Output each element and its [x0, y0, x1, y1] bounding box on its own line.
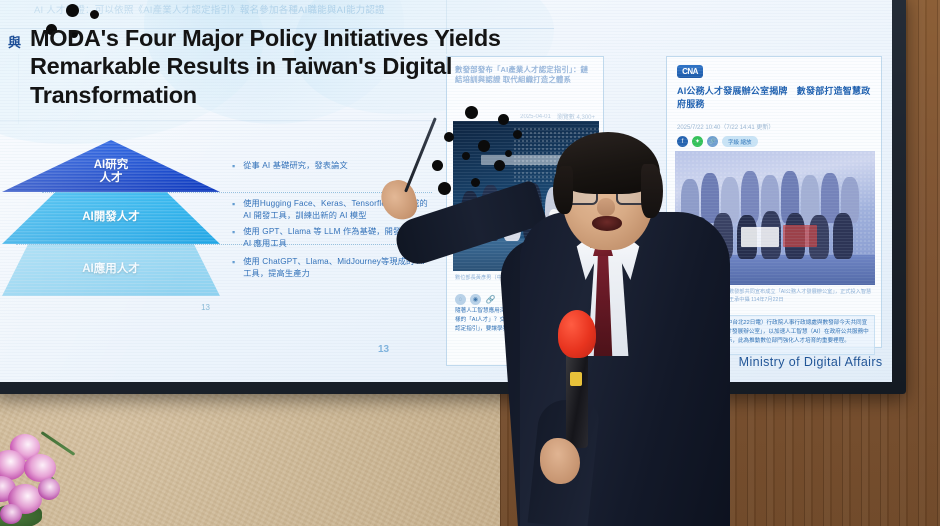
ai-talent-pyramid: AI研究人才 AI開發人才 AI應用人才 13	[2, 140, 220, 300]
pyramid-tier-application: AI應用人才	[2, 244, 220, 296]
pyramid-tier-development: AI開發人才	[2, 192, 220, 244]
bullet-dot-icon: ▪	[232, 160, 235, 174]
cna-logo-icon: CNA	[677, 65, 703, 78]
link-icon[interactable]: 🔗	[485, 294, 496, 305]
moda-brand-mark: 與	[8, 32, 21, 51]
microphone-icon	[558, 310, 596, 358]
clock-icon[interactable]: ◉	[470, 294, 481, 305]
bullet-group-application: ▪ 使用 ChatGPT、Llama、MidJourney等現成的 AI 工具，…	[232, 256, 432, 284]
moda-footer-en: Ministry of Digital Affairs	[739, 355, 883, 369]
pyramid-tier-label: AI研究人才	[94, 159, 129, 185]
mouth	[592, 216, 622, 231]
bullet-group-research: ▪ 從事 AI 基礎研究，發表論文	[232, 160, 432, 177]
orchid-arrangement	[0, 432, 134, 526]
microphone-body	[566, 352, 588, 448]
screenshot-stage: AI 人才認證：可以依照《AI產業人才認定指引》報名參加各種AI職能與AI能力認…	[0, 0, 940, 526]
hair-side-right	[641, 164, 663, 218]
pyramid-page-number: 13	[201, 303, 210, 312]
orchid-petal	[38, 478, 60, 500]
news-card-date: 2025/7/22 10:40（7/22 14:41 更新）	[677, 122, 774, 131]
microphone-badge	[570, 372, 582, 386]
bullet-item: ▪ 使用 ChatGPT、Llama、MidJourney等現成的 AI 工具，…	[232, 256, 432, 281]
bullet-dot-icon: ▪	[232, 256, 235, 281]
slide-ghost-text: AI 人才認證：可以依照《AI產業人才認定指引》報名參加各種AI職能與AI能力認…	[34, 2, 385, 16]
link-icon[interactable]: 🔗	[707, 136, 718, 147]
news-card-views: 瀏覽數 4,300+	[557, 112, 595, 121]
pyramid-tier-research: AI研究人才	[2, 140, 220, 192]
bullet-dot-icon: ▪	[232, 198, 235, 223]
bullet-item: ▪ 從事 AI 基礎研究，發表論文	[232, 160, 432, 174]
pyramid-tier-label: AI應用人才	[82, 263, 140, 276]
bullet-text: 使用 ChatGPT、Llama、MidJourney等現成的 AI 工具，提高…	[243, 256, 432, 281]
orchid-petal	[0, 504, 22, 524]
facebook-icon[interactable]: f	[677, 136, 688, 147]
microphone-hand	[540, 438, 580, 484]
font-size-pill[interactable]: 字級 縮放	[722, 136, 758, 147]
news-card-date: 2025-04-01	[520, 114, 551, 120]
bullet-text: 從事 AI 基礎研究，發表論文	[243, 160, 348, 174]
line-icon[interactable]: ✦	[692, 136, 703, 147]
pyramid-tier-label: AI開發人才	[82, 211, 140, 224]
hair-side-left	[553, 166, 573, 214]
page-title: MODA's Four Major Policy Initiatives Yie…	[30, 24, 560, 109]
comment-icon[interactable]: ◌	[455, 294, 466, 305]
news-card-headline: AI公務人才發展辦公室揭牌 數發部打造智慧政府服務	[677, 85, 873, 110]
news-card-share-icons[interactable]: f ✦ 🔗 字級 縮放	[677, 136, 758, 147]
bullet-dot-icon: ▪	[232, 226, 235, 251]
slide-page-number: 13	[378, 344, 389, 355]
